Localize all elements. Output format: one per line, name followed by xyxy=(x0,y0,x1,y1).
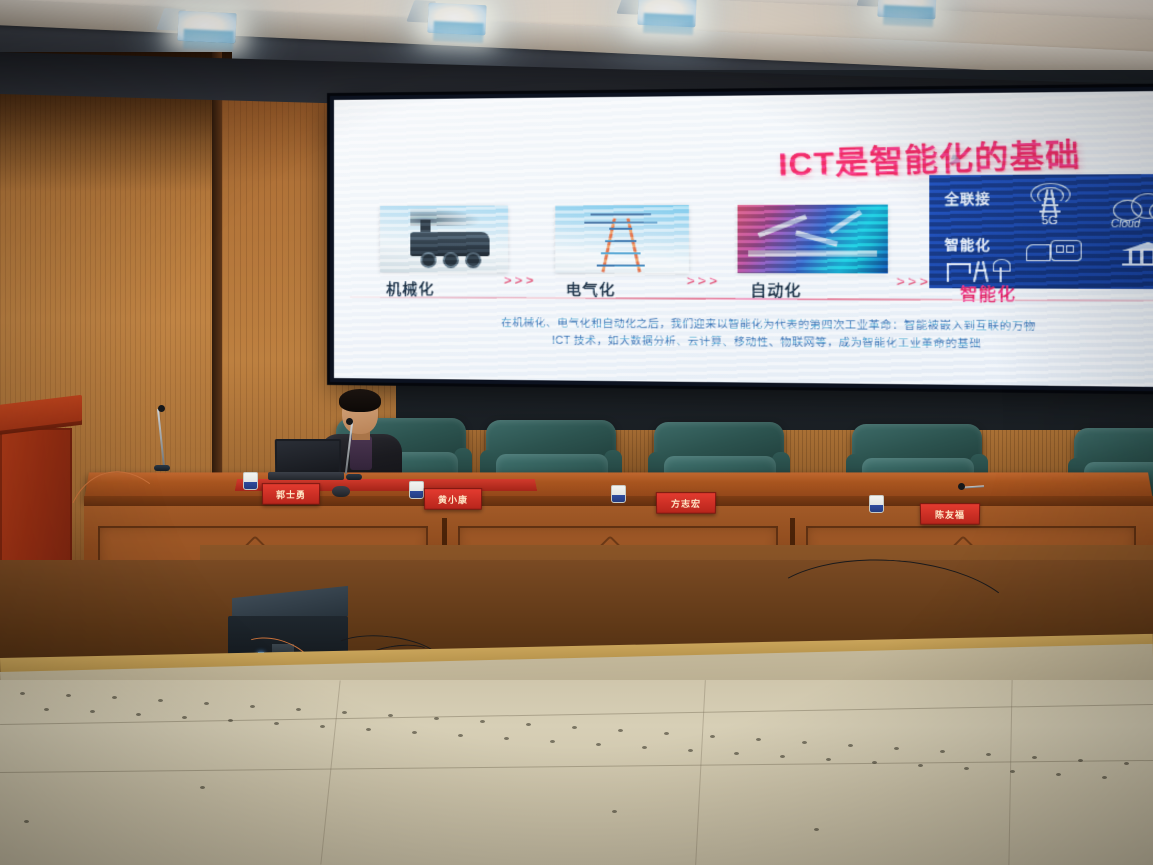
tower-cross-icon xyxy=(605,240,636,242)
stage-arrow: >>> xyxy=(897,273,932,289)
ceiling-spotlight xyxy=(419,0,495,40)
nameplate: 方志宏 xyxy=(656,492,716,514)
wheel-icon xyxy=(420,252,436,268)
ceiling-spotlight xyxy=(169,6,245,47)
conveyor-icon xyxy=(748,250,877,256)
ceiling-spotlight xyxy=(629,0,705,32)
nameplate: 陈友福 xyxy=(920,503,980,525)
ceiling-spotlight xyxy=(869,0,945,24)
laptop-keyboard[interactable] xyxy=(268,472,344,480)
stage-label-intelligence: 智能化 xyxy=(960,280,1016,305)
nameplate-text: 郭士勇 xyxy=(276,488,306,501)
wheel-icon xyxy=(465,252,481,268)
factory-icon xyxy=(1026,238,1084,263)
wheel-icon xyxy=(443,252,459,268)
slide-content: ICT是智能化的基础 xyxy=(334,91,1153,388)
caption-cloud: Cloud xyxy=(1111,219,1140,231)
bank-icon xyxy=(1122,238,1153,266)
panel-row-label-connectivity: 全联接 xyxy=(945,187,991,207)
stage-arrow: >>> xyxy=(687,273,721,289)
presentation-screen[interactable]: ICT是智能化的基础 xyxy=(330,86,1153,391)
caption-5g: 5G xyxy=(1042,215,1058,228)
nameplate-text: 方志宏 xyxy=(671,497,701,510)
tower-cross-icon xyxy=(601,252,641,254)
nameplate: 黄小康 xyxy=(424,488,482,510)
spotlight-glow xyxy=(183,29,234,51)
automation-image xyxy=(738,205,888,274)
spotlight-glow xyxy=(643,13,694,35)
panel-row-label-intelligence: 智能化 xyxy=(945,234,991,254)
speaker-hair xyxy=(339,389,381,412)
nameplate-text: 陈友福 xyxy=(935,508,965,521)
electrification-image xyxy=(555,205,689,273)
nameplate: 郭士勇 xyxy=(262,483,320,505)
slide-body-text: 在机械化、电气化和自动化之后，我们迎来以智能化为代表的第四次工业革命：智能被嵌入… xyxy=(431,315,1114,355)
stage-arrow: >>> xyxy=(504,272,537,287)
conference-hall-photo: ICT是智能化的基础 xyxy=(0,0,1153,865)
mechanization-image xyxy=(380,206,508,273)
robot-arm-icon xyxy=(829,210,862,234)
audience-floor xyxy=(0,680,1153,865)
paper-cup[interactable] xyxy=(869,495,884,513)
spotlight-glow xyxy=(883,5,934,27)
spotlight-glow xyxy=(433,21,484,43)
paper-cup[interactable] xyxy=(409,481,424,499)
tower-cross-icon xyxy=(609,228,632,230)
speaker-shirt xyxy=(350,436,372,470)
ict-capability-panel: 全联接 智能化 5G xyxy=(929,174,1153,289)
tower-arm-icon xyxy=(584,222,657,224)
tower-arm-icon xyxy=(591,213,652,215)
5g-tower-icon: 5G xyxy=(1019,183,1077,227)
computer-mouse[interactable] xyxy=(332,486,350,497)
nameplate-text: 黄小康 xyxy=(438,493,468,506)
paper-cup[interactable] xyxy=(611,485,626,503)
paper-cup[interactable] xyxy=(243,472,258,490)
tower-cross-icon xyxy=(597,265,645,267)
slide-divider xyxy=(350,296,1153,302)
